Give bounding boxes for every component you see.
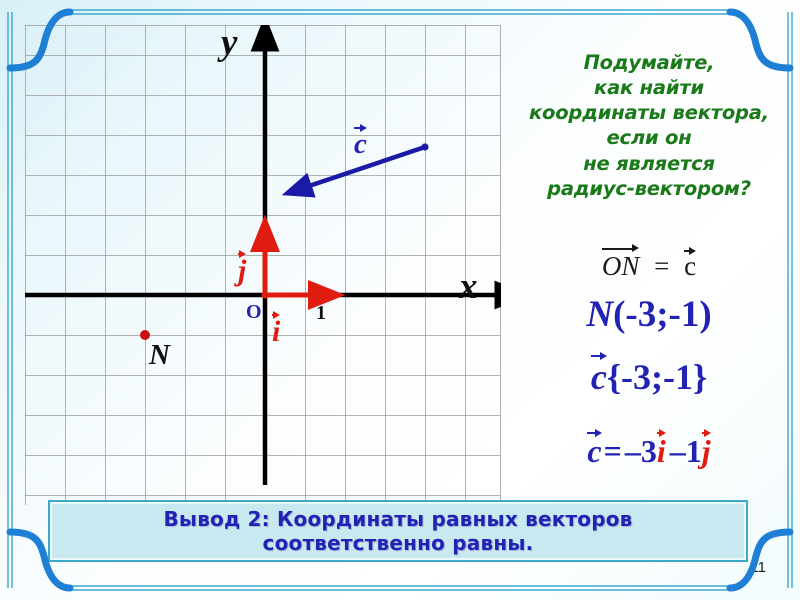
formula-c-expansion: c=–3i–1j: [500, 430, 798, 470]
formula-on-equals: =: [654, 251, 669, 281]
question-line-5: не является: [500, 151, 798, 176]
on-overline-arrow: ON: [602, 249, 640, 282]
coordinate-plane-graphic: [25, 25, 501, 505]
formula-on-n: N: [621, 251, 639, 281]
question-line-4: если он: [500, 125, 798, 150]
formula-expansion-c: c: [587, 430, 601, 470]
formula-n-name: N: [586, 294, 613, 335]
question-line-6: радиус-вектором?: [500, 176, 798, 201]
formula-expansion-term1: –3: [625, 433, 657, 469]
point-n-dot: [140, 330, 150, 340]
slide-canvas: y x O 1 i j c N Подумайте, как найти коо…: [0, 0, 800, 600]
origin-dot: [261, 291, 268, 298]
formula-c-name: c: [591, 353, 607, 398]
formula-expansion-equals: =: [604, 433, 622, 469]
formula-n-coords: (-3;-1): [613, 294, 712, 335]
conclusion-line-1: Вывод 2: Координаты равных векторов: [163, 507, 632, 531]
question-line-2: как найти: [500, 75, 798, 100]
formula-point-n: N(-3;-1): [500, 293, 798, 336]
formula-expansion-basis-i: i: [657, 430, 666, 470]
conclusion-banner: Вывод 2: Координаты равных векторов соот…: [48, 500, 748, 562]
conclusion-line-2: соответственно равны.: [263, 531, 534, 555]
question-line-1: Подумайте,: [500, 50, 798, 75]
formula-vector-c-braces: c{-3;-1}: [500, 353, 798, 398]
formula-on-equals-c: ON = c: [500, 248, 798, 282]
formula-expansion-term2: –1: [670, 433, 702, 469]
formula-on-c: c: [684, 248, 696, 282]
formula-c-coords: {-3;-1}: [607, 357, 707, 397]
page-number: 11: [750, 559, 766, 576]
vector-c-graphic: [309, 143, 429, 186]
formula-expansion-basis-j: j: [702, 430, 711, 470]
coordinate-plane: y x O 1 i j c N: [25, 25, 501, 505]
formula-on-o: O: [602, 251, 622, 281]
question-line-3: координаты вектора,: [500, 100, 798, 125]
question-text: Подумайте, как найти координаты вектора,…: [500, 50, 798, 201]
